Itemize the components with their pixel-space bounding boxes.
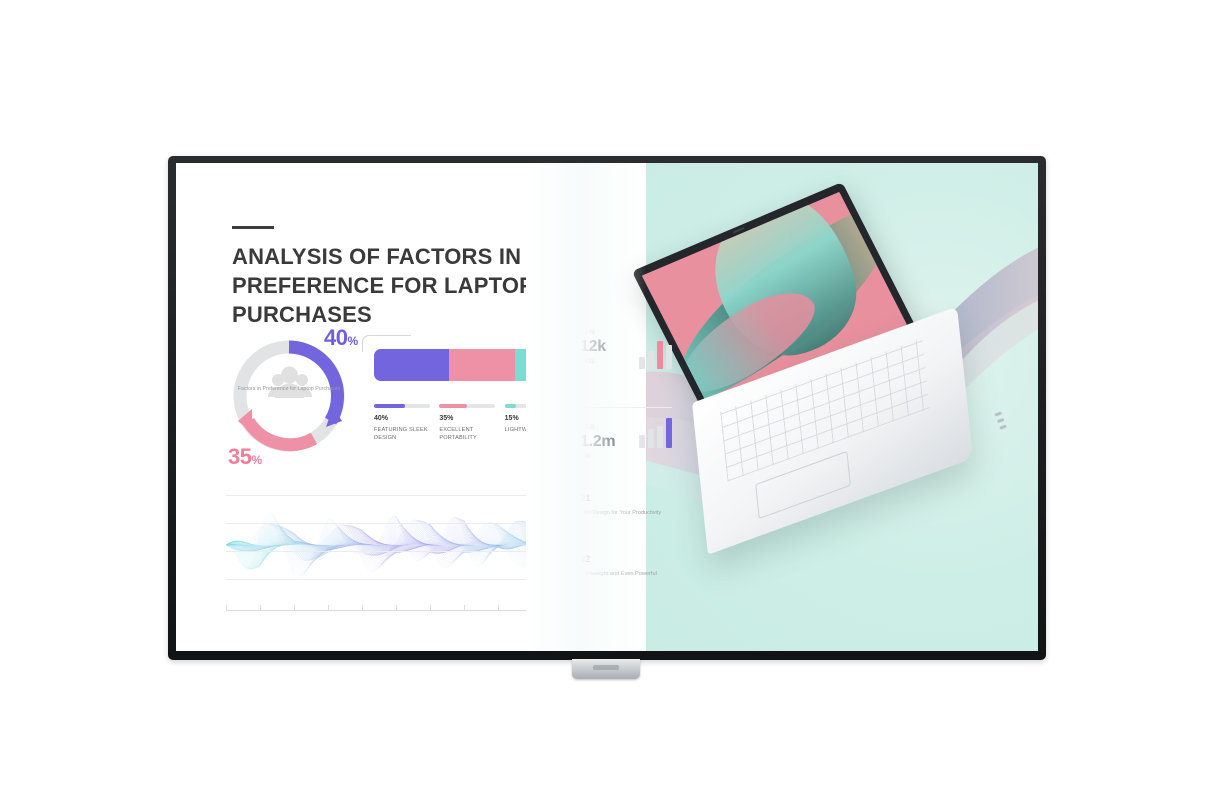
stacked-bar-segment <box>449 349 515 381</box>
laptop-product-image <box>686 235 1016 635</box>
stacked-bar-segment <box>374 349 449 381</box>
donut-callout-primary-unit: % <box>347 334 357 348</box>
waveform-graphic <box>226 489 566 601</box>
legend-percent: 35% <box>439 415 504 422</box>
axis-tick <box>294 605 295 610</box>
slide-infographic: ANALYSIS OF FACTORS IN PREFERENCE FOR LA… <box>176 163 1038 651</box>
axis-tick <box>328 605 329 610</box>
laptop-ports <box>994 410 1015 445</box>
donut-callout-primary: 40% <box>324 325 358 351</box>
axis-tick <box>430 605 431 610</box>
legend-item: 35%EXCELLENT PORTABILITY <box>439 404 504 442</box>
sparkline-bar <box>648 351 654 369</box>
legend-percent: 40% <box>374 415 439 422</box>
legend-item: 40%FEATURING SLEEK DESIGN <box>374 404 439 442</box>
title-accent-rule <box>232 226 274 229</box>
axis-tick <box>362 605 363 610</box>
donut-center-label: Factors in Preference for Laptop Purchas… <box>226 385 352 393</box>
sparkline-bar <box>657 341 663 370</box>
donut-callout-secondary: 35% <box>228 444 262 470</box>
sparkline-bar <box>666 418 672 448</box>
screenshot-canvas: ANALYSIS OF FACTORS IN PREFERENCE FOR LA… <box>0 0 1214 806</box>
display-monitor: ANALYSIS OF FACTORS IN PREFERENCE FOR LA… <box>168 156 1046 660</box>
axis-tick <box>464 605 465 610</box>
waveform-chart <box>226 489 566 611</box>
axis-tick <box>498 605 499 610</box>
product-photo-pane <box>646 163 1038 651</box>
photo-fade-overlay <box>526 163 646 651</box>
legend-label: EXCELLENT PORTABILITY <box>439 426 504 442</box>
legend-mini-fill <box>374 404 405 408</box>
legend-mini-fill <box>505 404 517 408</box>
donut-chart-svg <box>226 333 352 459</box>
axis-tick <box>226 605 227 610</box>
people-icon <box>268 367 312 399</box>
sparkline-bar <box>666 345 672 369</box>
donut-callout-primary-value: 40 <box>324 325 347 350</box>
sparkline-bar <box>657 426 663 448</box>
axis-tick <box>260 605 261 610</box>
axis-tick <box>396 605 397 610</box>
legend-mini-track <box>439 404 495 408</box>
waveform-x-axis <box>226 610 566 611</box>
monitor-stand <box>572 659 640 679</box>
monitor-screen: ANALYSIS OF FACTORS IN PREFERENCE FOR LA… <box>176 163 1038 651</box>
donut-chart: Factors in Preference for Laptop Purchas… <box>226 333 352 459</box>
legend-label: FEATURING SLEEK DESIGN <box>374 426 439 442</box>
donut-callout-secondary-unit: % <box>251 453 261 467</box>
donut-callout-secondary-value: 35 <box>228 444 251 469</box>
sparkline-bar <box>648 429 654 448</box>
legend-mini-fill <box>439 404 466 408</box>
legend-mini-track <box>374 404 430 408</box>
